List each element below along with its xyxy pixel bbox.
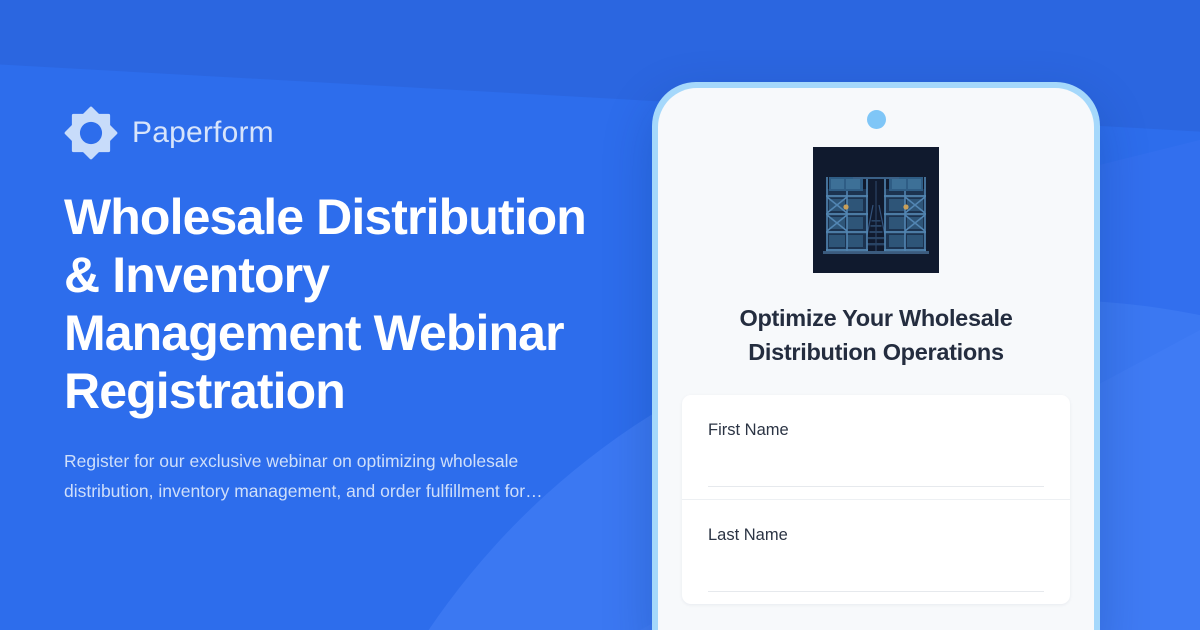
paperform-star-logo-icon bbox=[64, 106, 118, 160]
form-field-first-name[interactable]: First Name bbox=[682, 395, 1070, 500]
form-field-label: Last Name bbox=[708, 524, 1044, 546]
form-field-label: First Name bbox=[708, 419, 1044, 441]
form-card: First Name Last Name bbox=[682, 395, 1070, 604]
front-camera-dot-icon bbox=[867, 110, 886, 129]
phone-screen: Optimize Your Wholesale Distribution Ope… bbox=[658, 88, 1094, 630]
page-title: Wholesale Distribution & Inventory Manag… bbox=[64, 188, 604, 420]
hero-content: Paperform Wholesale Distribution & Inven… bbox=[64, 104, 624, 506]
brand-lockup: Paperform bbox=[64, 104, 624, 162]
page-subtitle: Register for our exclusive webinar on op… bbox=[64, 446, 584, 506]
form-title: Optimize Your Wholesale Distribution Ope… bbox=[692, 301, 1060, 369]
warehouse-racking-illustration-icon bbox=[813, 147, 939, 273]
brand-name: Paperform bbox=[132, 116, 274, 150]
form-field-last-name[interactable]: Last Name bbox=[682, 500, 1070, 604]
field-underline bbox=[708, 486, 1044, 487]
field-underline bbox=[708, 591, 1044, 592]
phone-mockup: Optimize Your Wholesale Distribution Ope… bbox=[652, 82, 1100, 630]
